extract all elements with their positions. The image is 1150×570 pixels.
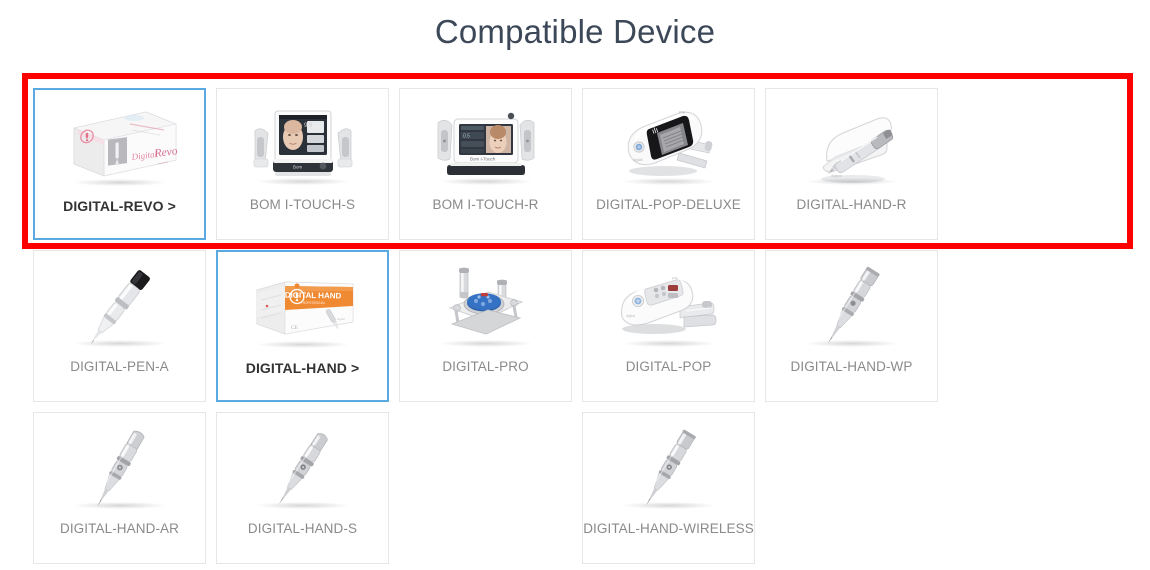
device-card-digital-hand-ar[interactable]: DIGITAL-HAND-AR — [33, 412, 206, 564]
device-card-label: BOM I-TOUCH-S — [246, 197, 359, 213]
device-card-digital-hand-wp[interactable]: DIGITAL-HAND-WP — [765, 250, 938, 402]
device-card-label: DIGITAL-PEN-A — [66, 359, 173, 375]
device-tablet-portrait-image: 9 9 Bom — [217, 89, 388, 197]
drop-shadow — [806, 340, 898, 347]
svg-text:pop: pop — [679, 110, 685, 114]
device-card-digital-hand-wireless[interactable]: DIGITAL-HAND-WIRELESS — [582, 412, 755, 564]
drop-shadow — [440, 178, 532, 185]
compatible-device-page: Compatible Device — [0, 0, 1150, 570]
device-card-digital-pen-a[interactable]: DIGITAL-PEN-A — [33, 250, 206, 402]
device-card-label: DIGITAL-HAND > — [242, 360, 364, 377]
svg-text:9 9: 9 9 — [304, 123, 313, 129]
drop-shadow — [74, 179, 166, 186]
svg-text:DIGITAL HAND: DIGITAL HAND — [284, 291, 341, 301]
device-card-label: DIGITAL-HAND-R — [793, 197, 911, 213]
device-card-label: DIGITAL-PRO — [438, 359, 532, 375]
device-pen-metallic-image — [34, 413, 205, 521]
svg-text:Bom I-Touch: Bom I-Touch — [470, 157, 496, 162]
device-card-label: DIGITAL-HAND-S — [244, 521, 361, 537]
drop-shadow — [440, 340, 532, 347]
product-box-digital-hand-image: DIGITAL HAND PROFESSIONAL — [218, 252, 387, 360]
svg-text:PROFESSIONAL: PROFESSIONAL — [300, 301, 325, 305]
device-card-digital-hand-r[interactable]: digital DIGITAL-HAND-R — [765, 88, 938, 240]
device-card-digital-pop-deluxe[interactable]: ılı digital pop DIGITAL-POP-DELUXE — [582, 88, 755, 240]
device-card-bom-i-touch-s[interactable]: 9 9 Bom BOM I-TOUCH-S — [216, 88, 389, 240]
svg-text:digital: digital — [337, 317, 345, 321]
svg-text:digital: digital — [626, 314, 635, 318]
drop-shadow — [806, 178, 898, 185]
device-pen-metallic-image — [217, 413, 388, 521]
drop-shadow — [623, 178, 715, 185]
drop-shadow — [257, 178, 349, 185]
device-card-digital-pro[interactable]: DIGITAL-PRO — [399, 250, 572, 402]
drop-shadow — [257, 502, 349, 509]
device-base-blue-dial-image — [400, 251, 571, 359]
drop-shadow — [74, 502, 166, 509]
device-tablet-landscape-image: 0.5 Bom I-Touch — [400, 89, 571, 197]
svg-text:0.5: 0.5 — [463, 134, 470, 140]
svg-text:pop: pop — [672, 276, 678, 280]
device-pen-cradle-image: digital — [766, 89, 937, 197]
device-card-label: DIGITAL-POP-DELUXE — [592, 197, 745, 213]
device-card-digital-hand-s[interactable]: DIGITAL-HAND-S — [216, 412, 389, 564]
device-card-label: DIGITAL-REVO > — [59, 198, 180, 215]
device-card-digital-pop[interactable]: digital pop DIGITAL-POP — [582, 250, 755, 402]
svg-text:digital: digital — [633, 158, 643, 162]
device-card-grid: Digital Revo DIGITAL-REVO > — [33, 88, 1118, 564]
device-card-label: BOM I-TOUCH-R — [428, 197, 542, 213]
device-pen-metallic-image — [583, 413, 754, 521]
page-title: Compatible Device — [0, 13, 1150, 51]
device-card-digital-hand[interactable]: DIGITAL HAND PROFESSIONAL — [216, 250, 389, 402]
device-card-label: DIGITAL-POP — [622, 359, 716, 375]
product-box-digital-revo-image: Digital Revo — [35, 90, 204, 198]
device-card-digital-revo[interactable]: Digital Revo DIGITAL-REVO > — [33, 88, 206, 240]
device-console-white-image: digital pop — [583, 251, 754, 359]
device-card-bom-i-touch-r[interactable]: 0.5 Bom I-Touch — [399, 88, 572, 240]
device-card-label: DIGITAL-HAND-AR — [56, 521, 183, 537]
drop-shadow — [623, 502, 715, 509]
device-card-label: DIGITAL-HAND-WP — [787, 359, 917, 375]
device-card-label: DIGITAL-HAND-WIRELESS — [579, 521, 758, 537]
svg-text:CE: CE — [291, 325, 299, 331]
device-pen-black-cap-image — [34, 251, 205, 359]
drop-shadow — [623, 340, 715, 347]
device-pen-metallic-image — [766, 251, 937, 359]
drop-shadow — [257, 341, 349, 348]
svg-text:Bom: Bom — [293, 165, 303, 170]
drop-shadow — [74, 340, 166, 347]
device-console-deluxe-image: ılı digital pop — [583, 89, 754, 197]
